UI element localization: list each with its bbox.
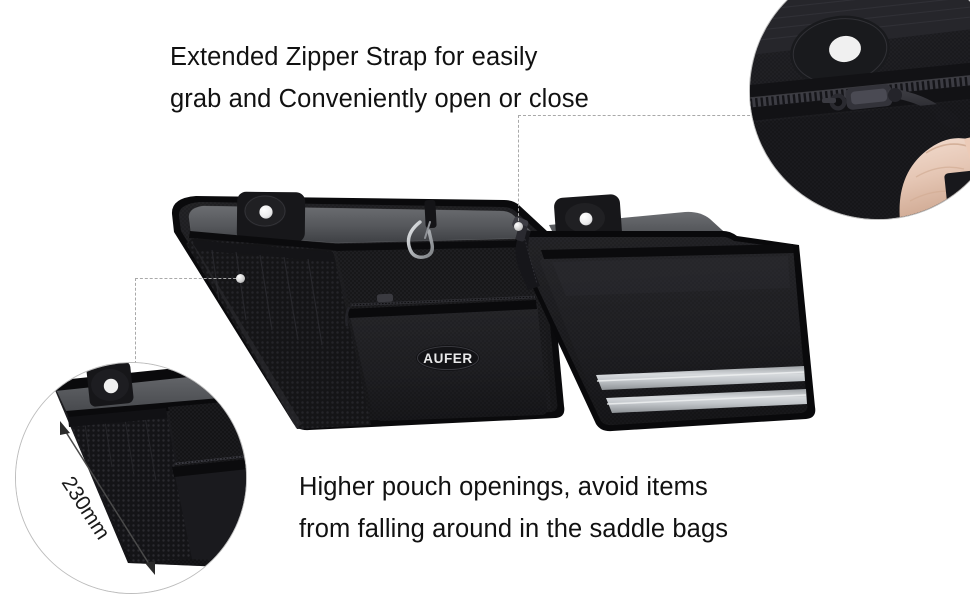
pocket-zipper	[346, 294, 535, 326]
callout-bottom-line2: from falling around in the saddle bags	[299, 508, 728, 550]
callout-top-line1: Extended Zipper Strap for easily	[170, 36, 589, 78]
aufer-brand-badge: AUFER	[416, 345, 480, 371]
grommet-hole-dim	[104, 379, 118, 393]
grommet-right-hole	[580, 213, 593, 226]
grommet-patch-dim	[86, 363, 134, 407]
front-zip-pocket: AUFER	[346, 294, 547, 421]
carabiner-hook	[408, 200, 436, 258]
zipper-closeup-photo	[750, 0, 970, 220]
dimension-closeup-photo	[16, 363, 247, 594]
leader-bottom-dot	[236, 274, 245, 283]
top-flap-right	[549, 194, 733, 247]
leader-top-horizontal	[518, 115, 770, 116]
callout-bottom-line1: Higher pouch openings, avoid items	[299, 466, 728, 508]
top-flap-left	[189, 192, 538, 243]
callout-top-text: Extended Zipper Strap for easily grab an…	[170, 36, 589, 120]
grommet-patch-left	[237, 192, 306, 243]
inset-zipper-closeup	[749, 0, 970, 220]
inset-dimension-closeup: 230mm	[15, 362, 247, 594]
leader-top-dot	[514, 222, 523, 231]
leader-bottom-vertical	[135, 278, 136, 364]
right-panel	[511, 194, 815, 431]
reflective-strip-1	[596, 366, 805, 390]
callout-bottom-text: Higher pouch openings, avoid items from …	[299, 466, 728, 550]
grommet-left-hole	[259, 205, 272, 218]
grommet-patch-right	[553, 194, 622, 244]
svg-text:AUFER: AUFER	[423, 351, 473, 366]
product-feature-image: AUFER	[0, 0, 970, 600]
callout-top-line2: grab and Conveniently open or close	[170, 78, 589, 120]
reflective-strips	[596, 366, 807, 413]
leader-bottom-horizontal	[135, 278, 241, 279]
reflective-strip-2	[606, 389, 807, 413]
leader-top-vertical	[518, 115, 519, 226]
